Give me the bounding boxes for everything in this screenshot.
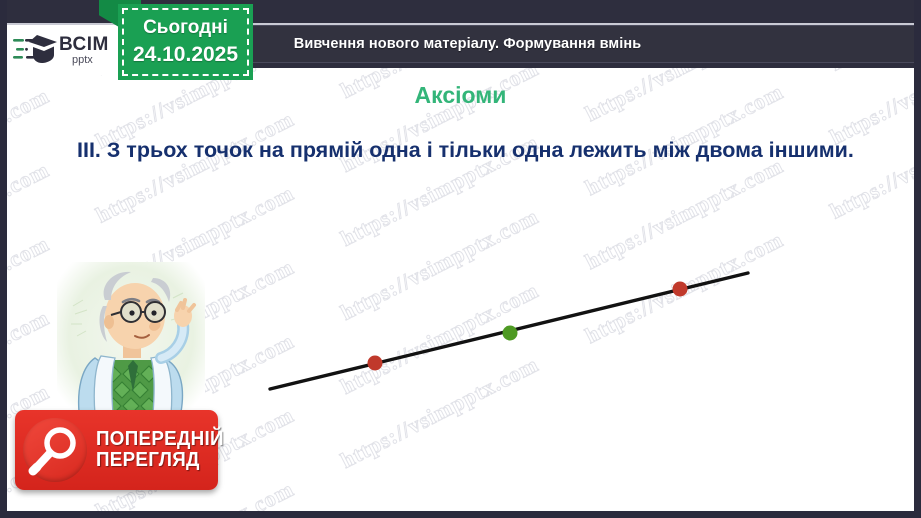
- slide-title: Аксіоми: [7, 82, 914, 109]
- preview-button-labels: ПОПЕРЕДНІЙ ПЕРЕГЛЯД: [96, 429, 232, 471]
- preview-button[interactable]: ПОПЕРЕДНІЙ ПЕРЕГЛЯД: [15, 410, 218, 490]
- axiom-body-text: III. З трьох точок на прямій одна і тіль…: [77, 136, 867, 165]
- slide-canvas: https://vsimpptx.comhttps://vsimpptx.com…: [0, 0, 921, 518]
- brand-logo[interactable]: ВСІМ pptx: [7, 25, 119, 75]
- header-title: Вивчення нового матеріалу. Формування вм…: [294, 36, 642, 52]
- logo-name: ВСІМ: [59, 35, 109, 54]
- point-red-right: [673, 282, 688, 297]
- graduation-cap-icon: [13, 33, 57, 67]
- logo-suffix: pptx: [72, 55, 109, 66]
- preview-button-line2: ПЕРЕГЛЯД: [96, 450, 224, 471]
- professor-illustration: [57, 262, 205, 427]
- magnifier-icon: [23, 418, 87, 482]
- date-badge-value: 24.10.2025: [133, 43, 238, 66]
- point-red-left: [368, 356, 383, 371]
- straight-line: [270, 273, 748, 389]
- logo-text: ВСІМ pptx: [59, 35, 109, 66]
- date-badge-label: Сьогодні: [143, 18, 228, 39]
- point-green-mid: [503, 326, 518, 341]
- preview-button-line1: ПОПЕРЕДНІЙ: [96, 429, 224, 450]
- date-badge: Сьогодні 24.10.2025: [118, 4, 253, 80]
